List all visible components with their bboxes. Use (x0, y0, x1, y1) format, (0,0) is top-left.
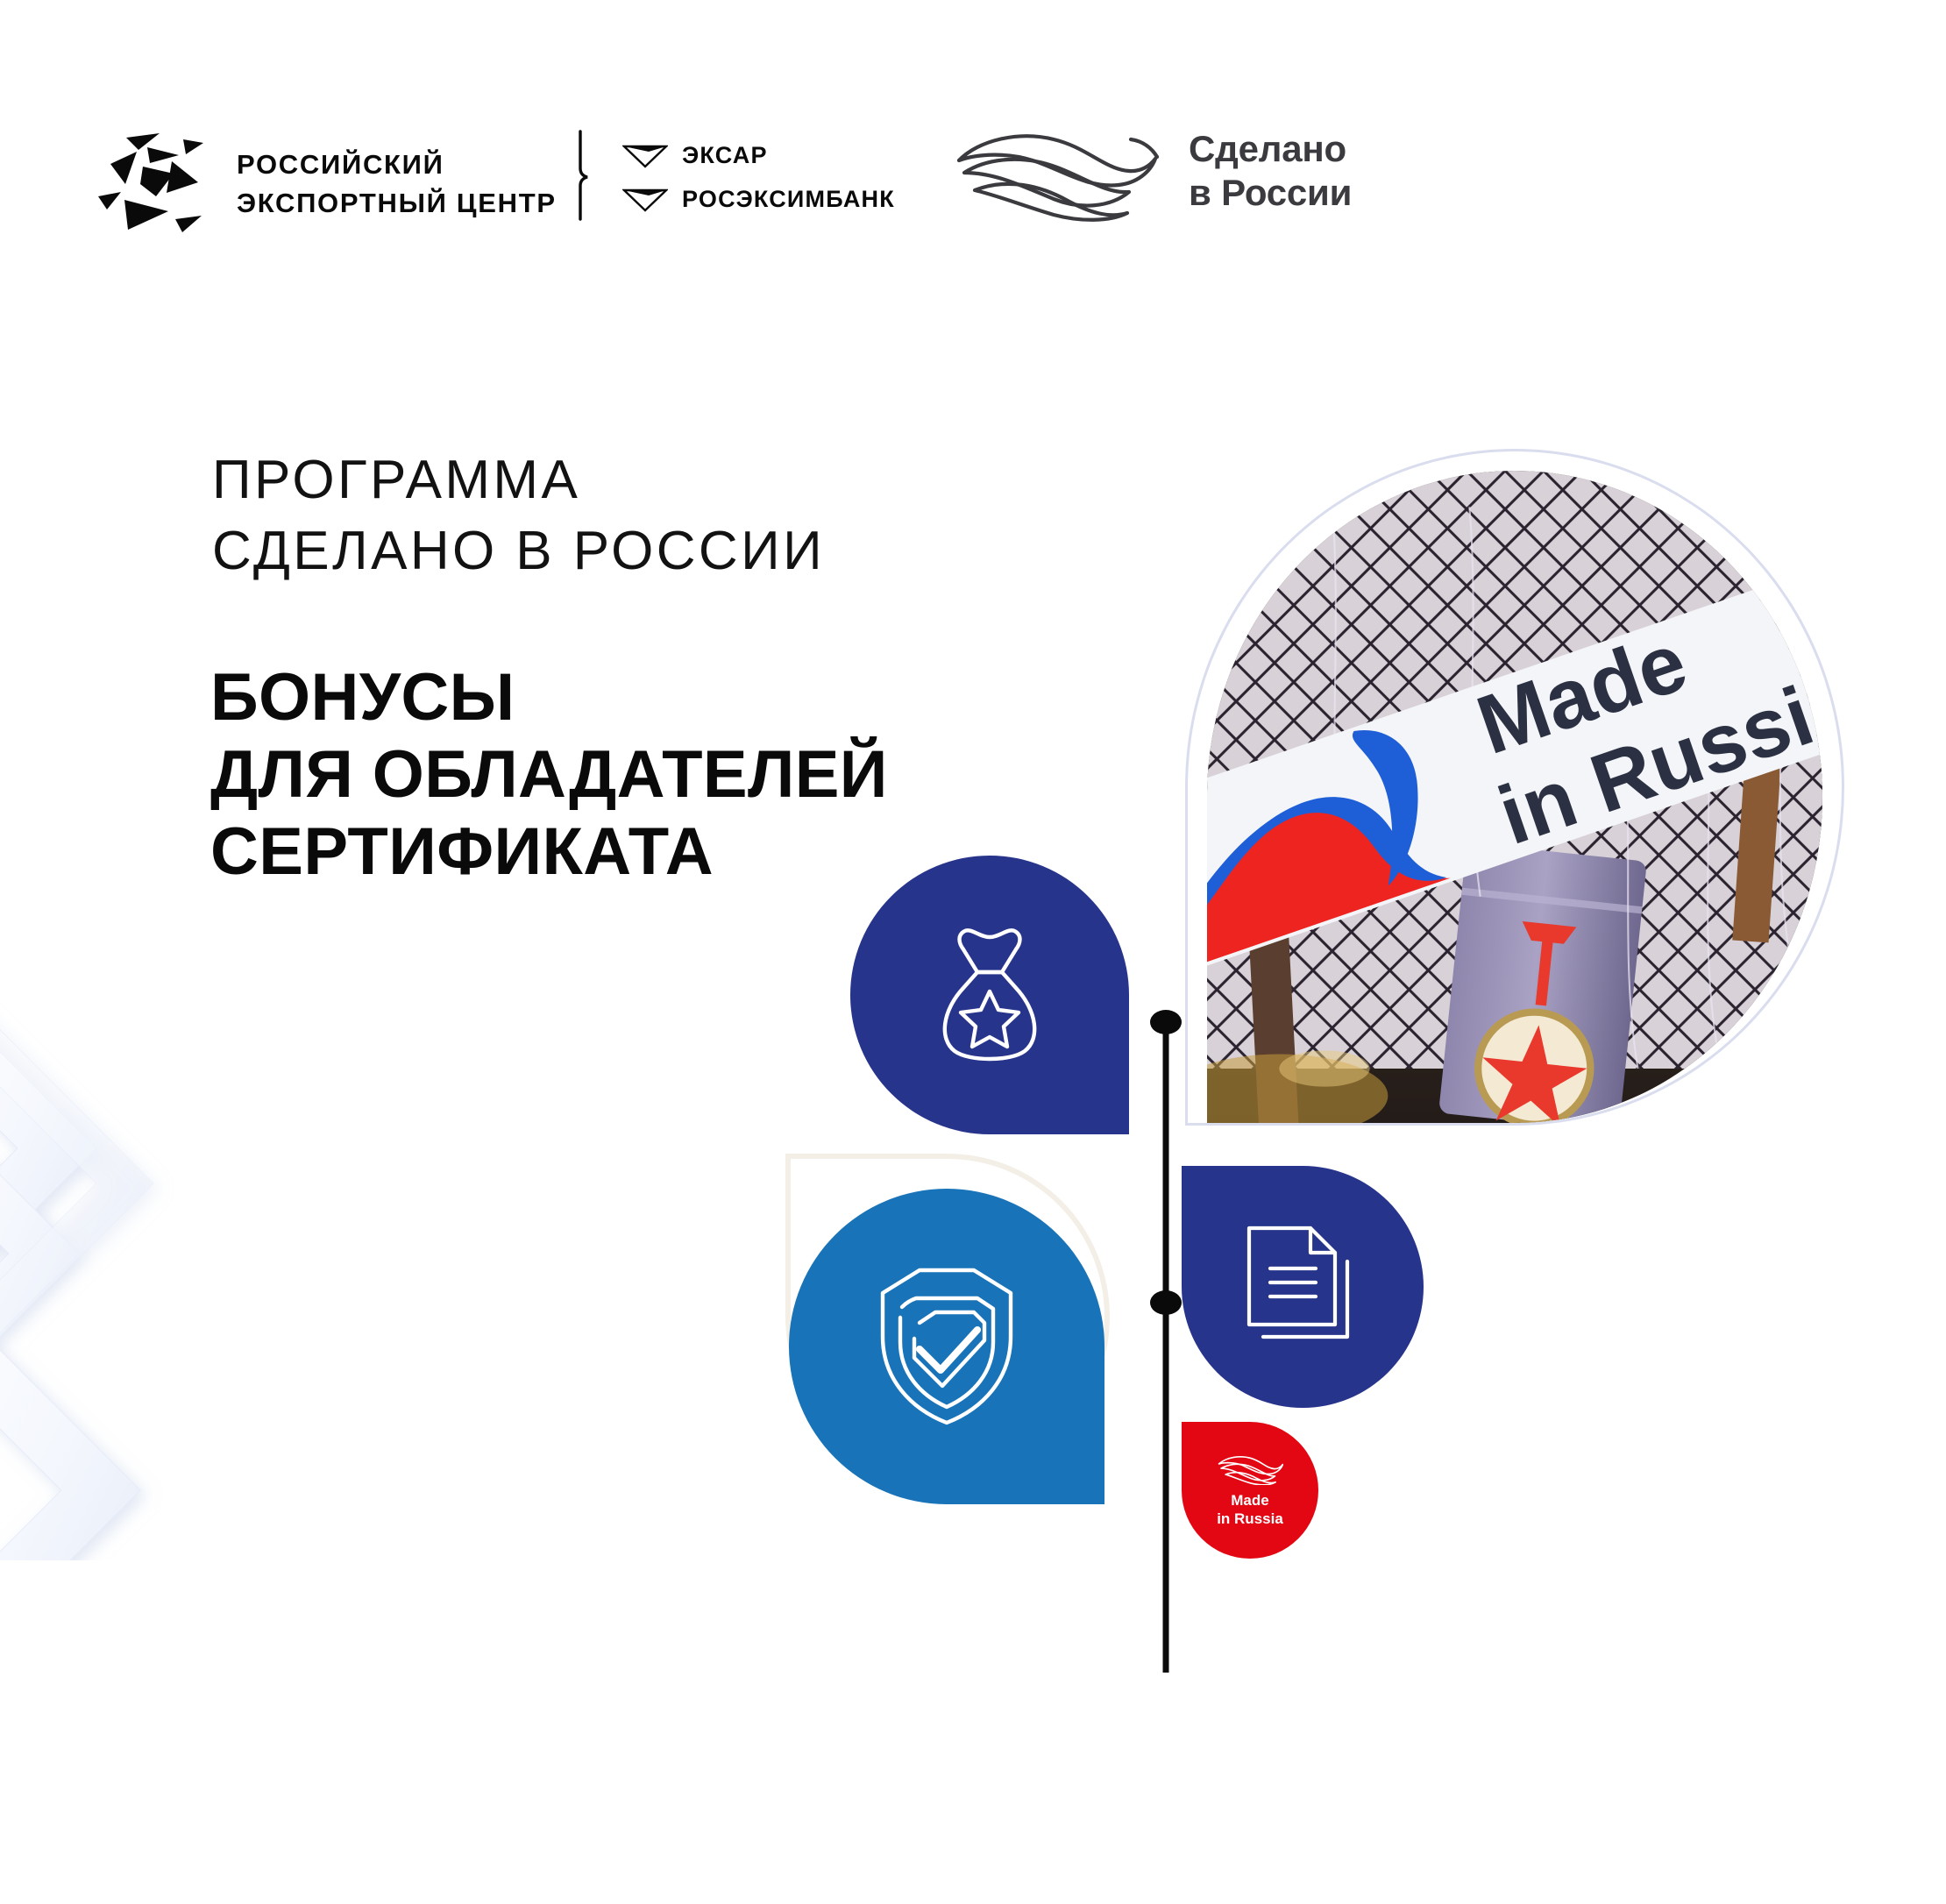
bird-wave-logo-icon (955, 118, 1166, 224)
triangle-flag-icon (622, 142, 668, 168)
page-title: БОНУСЫ ДЛЯ ОБЛАДАТЕЛЕЙ СЕРТИФИКАТА (210, 659, 888, 891)
connector-line (1140, 1008, 1192, 1674)
mir-line2: в России (1189, 171, 1352, 215)
exar-row: ЭКСАР (622, 133, 895, 177)
exhibition-photo: Made in Russi (1207, 471, 1822, 1123)
connector-dot-middle (1150, 1290, 1182, 1315)
photo-card: Made in Russi (1185, 449, 1844, 1126)
blob-shield-check[interactable] (789, 1189, 1104, 1504)
made-in-russia-logo[interactable]: Сделано в России (955, 118, 1352, 224)
photo-illustration: Made in Russi (1207, 471, 1822, 1123)
background-chevron-pattern (0, 894, 368, 1560)
blob-documents[interactable] (1182, 1166, 1424, 1408)
program-eyebrow: ПРОГРАММА СДЕЛАНО В РОССИИ (212, 445, 825, 586)
blob-made-in-russia-badge[interactable]: Made in Russia (1182, 1422, 1318, 1559)
rec-logo[interactable]: РОССИЙСКИЙ ЭКСПОРТНЫЙ ЦЕНТР (95, 123, 557, 245)
exar-label: ЭКСАР (682, 142, 768, 169)
money-bag-star-icon (920, 923, 1060, 1067)
divider-hook-icon (572, 130, 594, 221)
blob-money-bag[interactable] (850, 856, 1129, 1134)
rec-fragmented-sphere-logo-icon (95, 123, 217, 245)
badge-label: Made in Russia (1217, 1492, 1283, 1528)
rec-logo-line2: ЭКСПОРТНЫЙ ЦЕНТР (237, 184, 557, 223)
rec-logo-line1: РОССИЙСКИЙ (237, 146, 557, 184)
mir-line1: Сделано (1189, 127, 1352, 171)
exar-roseximbank-logo[interactable]: ЭКСАР РОСЭКСИМБАНК (622, 133, 895, 221)
bird-wave-logo-icon (1217, 1452, 1283, 1485)
triangle-flag-icon (622, 186, 668, 212)
connector-dot-top (1150, 1010, 1182, 1034)
header-logos: РОССИЙСКИЙ ЭКСПОРТНЫЙ ЦЕНТР ЭКСАР (0, 0, 1946, 263)
rec-logo-wordmark: РОССИЙСКИЙ ЭКСПОРТНЫЙ ЦЕНТР (237, 146, 557, 223)
roseximbank-label: РОСЭКСИМБАНК (682, 186, 895, 213)
documents-icon (1244, 1223, 1361, 1351)
shield-check-icon (867, 1263, 1026, 1430)
roseximbank-row: РОСЭКСИМБАНК (622, 177, 895, 221)
made-in-russia-wordmark: Сделано в России (1189, 127, 1352, 214)
poster-canvas: РОССИЙСКИЙ ЭКСПОРТНЫЙ ЦЕНТР ЭКСАР (0, 0, 1946, 1904)
